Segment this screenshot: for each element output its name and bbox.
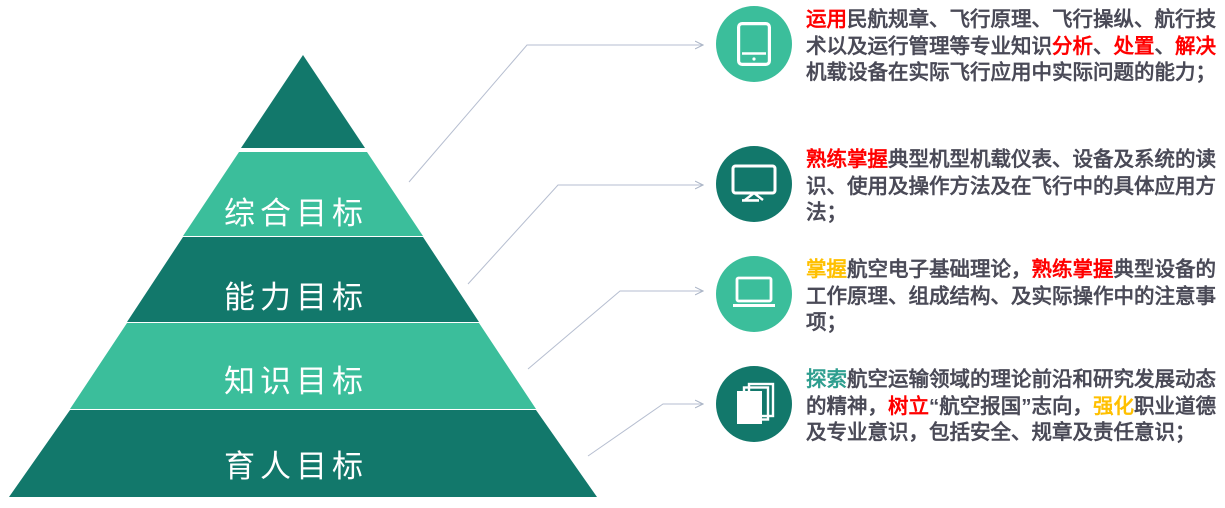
infographic-root: 综合目标 能力目标 知识目标 育人目标 xyxy=(0,0,1225,508)
icon-circle xyxy=(716,146,792,222)
txt-run: 机载设备在实际飞行应用中实际问题的能力； xyxy=(806,61,1216,84)
list-item: 探索航空运输领域的理论前沿和研究发展动态的精神，树立“航空报国”志向，强化职业道… xyxy=(716,366,1225,447)
hl-run: 解决 xyxy=(1175,35,1216,58)
pyramid-label-1: 综合目标 xyxy=(0,188,606,233)
pyramid-label-4: 育人目标 xyxy=(0,441,606,486)
hl-run: 树立 xyxy=(888,395,929,418)
item-text: 熟练掌握典型机型机载仪表、设备及系统的读识、使用及操作方法及在飞行中的具体应用方… xyxy=(806,146,1225,227)
pyramid-label-2: 能力目标 xyxy=(0,272,606,317)
goal-detail-list: 运用民航规章、飞行原理、飞行操纵、航行技术以及运行管理等专业知识分析、处置、解决… xyxy=(716,0,1225,508)
hl-run: 熟练掌握 xyxy=(806,148,888,171)
tablet-icon xyxy=(737,22,771,66)
documents-icon xyxy=(733,382,775,426)
hl-run: 运用 xyxy=(806,8,847,31)
icon-circle xyxy=(716,366,792,442)
laptop-icon xyxy=(731,276,777,312)
hl-run: 掌握 xyxy=(806,258,847,281)
hl-run: 强化 xyxy=(1093,395,1134,418)
hl-run: 处置 xyxy=(1114,35,1155,58)
hl-run: 熟练掌握 xyxy=(1032,258,1114,281)
list-item: 掌握航空电子基础理论，熟练掌握典型设备的工作原理、组成结构、及实际操作中的注意事… xyxy=(716,256,1225,337)
icon-circle xyxy=(716,6,792,82)
pyramid-label-3: 知识目标 xyxy=(0,356,606,401)
list-item: 运用民航规章、飞行原理、飞行操纵、航行技术以及运行管理等专业知识分析、处置、解决… xyxy=(716,6,1225,87)
item-text: 运用民航规章、飞行原理、飞行操纵、航行技术以及运行管理等专业知识分析、处置、解决… xyxy=(806,6,1225,87)
monitor-icon xyxy=(731,164,777,204)
txt-run: 航空电子基础理论， xyxy=(847,258,1032,281)
txt-run: “航空报国”志向， xyxy=(929,395,1093,418)
icon-circle xyxy=(716,256,792,332)
hl-run: 分析 xyxy=(1052,35,1093,58)
item-text: 掌握航空电子基础理论，熟练掌握典型设备的工作原理、组成结构、及实际操作中的注意事… xyxy=(806,256,1225,337)
hl-run: 探索 xyxy=(806,368,847,391)
item-text: 探索航空运输领域的理论前沿和研究发展动态的精神，树立“航空报国”志向，强化职业道… xyxy=(806,366,1225,447)
txt-run: 、 xyxy=(1155,35,1176,58)
pyramid-apex xyxy=(241,55,365,148)
list-item: 熟练掌握典型机型机载仪表、设备及系统的读识、使用及操作方法及在飞行中的具体应用方… xyxy=(716,146,1225,227)
txt-run: 、 xyxy=(1093,35,1114,58)
goal-pyramid xyxy=(0,0,625,508)
